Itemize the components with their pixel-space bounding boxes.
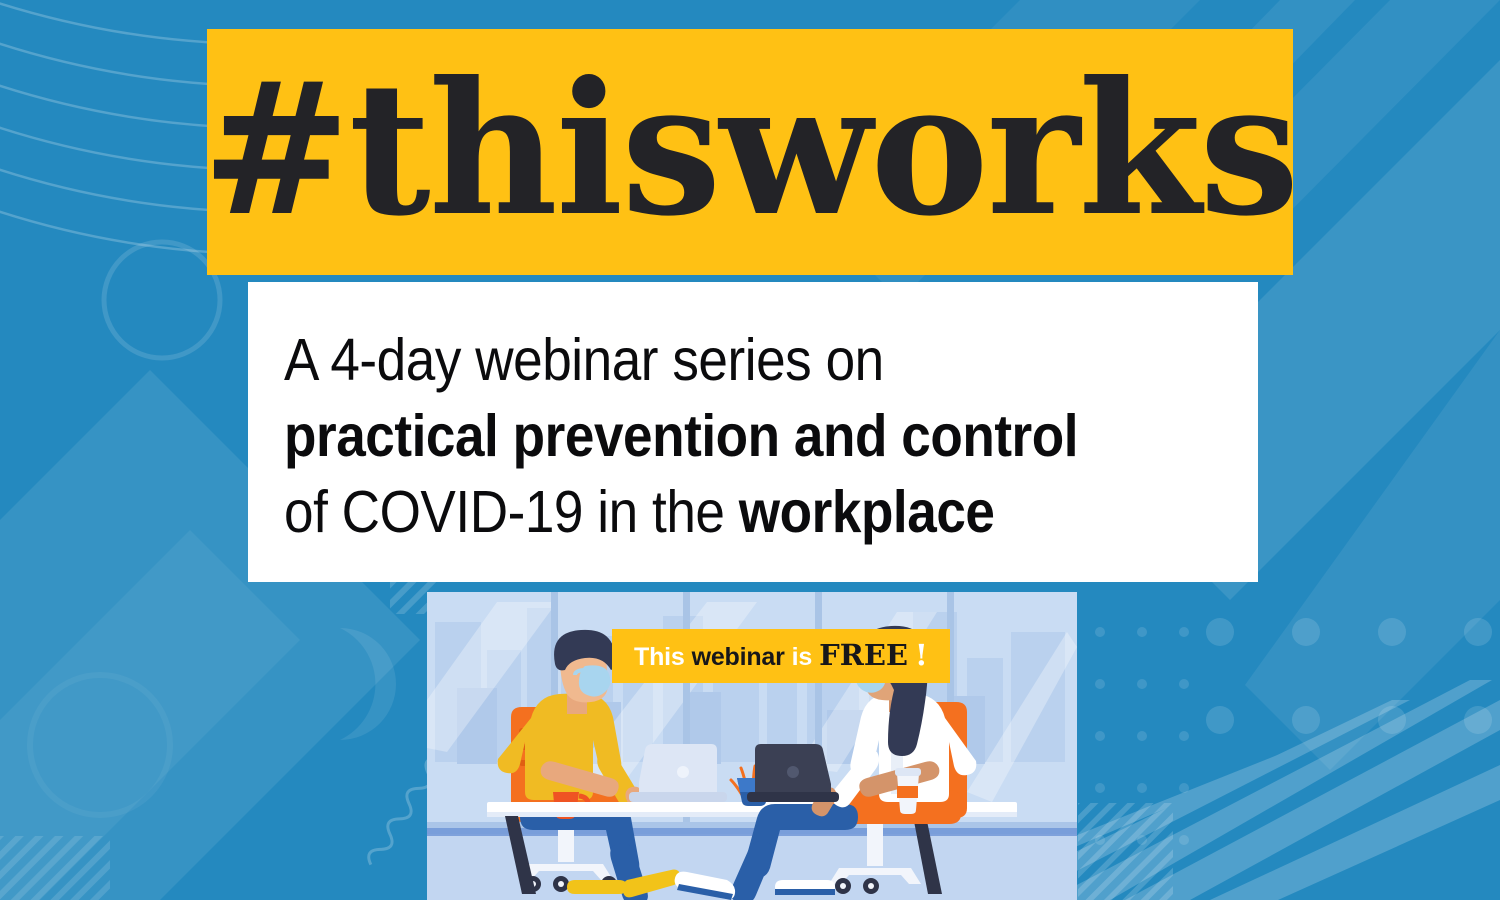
subtitle-line-2: practical prevention and control: [284, 398, 1134, 474]
subtitle-line-3: of COVID-19 in the workplace: [284, 474, 1134, 550]
free-badge: This webinar is FREE !: [612, 629, 950, 683]
left-person-shoe-back: [567, 880, 627, 894]
circle-outline-left: [104, 242, 220, 358]
hatch-patch-bottomright: [1078, 803, 1173, 900]
subtitle-line-3-bold: workplace: [739, 479, 995, 545]
right-person-coffee-sleeve: [897, 786, 918, 798]
dot-grid-large: [1200, 575, 1500, 785]
title-banner: #thisworks: [207, 29, 1293, 275]
free-badge-word-webinar: webinar: [692, 643, 785, 672]
left-person-laptop-logo: [677, 766, 689, 778]
chevron-stripes-right2: [1245, 330, 1500, 770]
left-person-laptop-base: [629, 792, 727, 802]
right-chair-column: [867, 824, 883, 866]
hashtag-title: #thisworks: [202, 58, 1297, 241]
subtitle-card: A 4-day webinar series on practical prev…: [248, 282, 1258, 582]
free-badge-word-this: This: [634, 643, 685, 672]
subtitle-line-1: A 4-day webinar series on: [284, 322, 1134, 398]
free-badge-word-free: FREE: [819, 638, 908, 672]
right-person-laptop-base: [747, 792, 839, 802]
subtitle-line-1-text: A 4-day webinar series on: [284, 327, 884, 393]
crescent-arc: [340, 628, 396, 740]
floor-trim: [427, 828, 1077, 836]
hatch-patch-bottomleft: [0, 836, 110, 900]
dot-grid-small: [1080, 600, 1215, 850]
circle-outline-bottomleft: [30, 675, 170, 815]
right-chair-wheel-2-inner: [868, 883, 874, 889]
right-chair-wheel-1-inner: [840, 883, 846, 889]
poster-canvas: #thisworks A 4-day webinar series on pra…: [0, 0, 1500, 900]
right-person-shoe-back-sole: [775, 889, 835, 895]
diagonal-band-left2: [0, 530, 300, 900]
free-badge-word-is: is: [792, 643, 812, 672]
left-chair-wheel-2-inner: [558, 881, 564, 887]
left-person-laptop-screen: [639, 744, 717, 792]
subtitle-line-2-text: practical prevention and control: [284, 403, 1078, 469]
right-person-laptop-logo: [787, 766, 799, 778]
right-person-coffee-lid: [895, 768, 921, 776]
subtitle-line-3-light: of COVID-19 in the: [284, 479, 739, 545]
free-badge-exclamation: !: [915, 638, 928, 672]
